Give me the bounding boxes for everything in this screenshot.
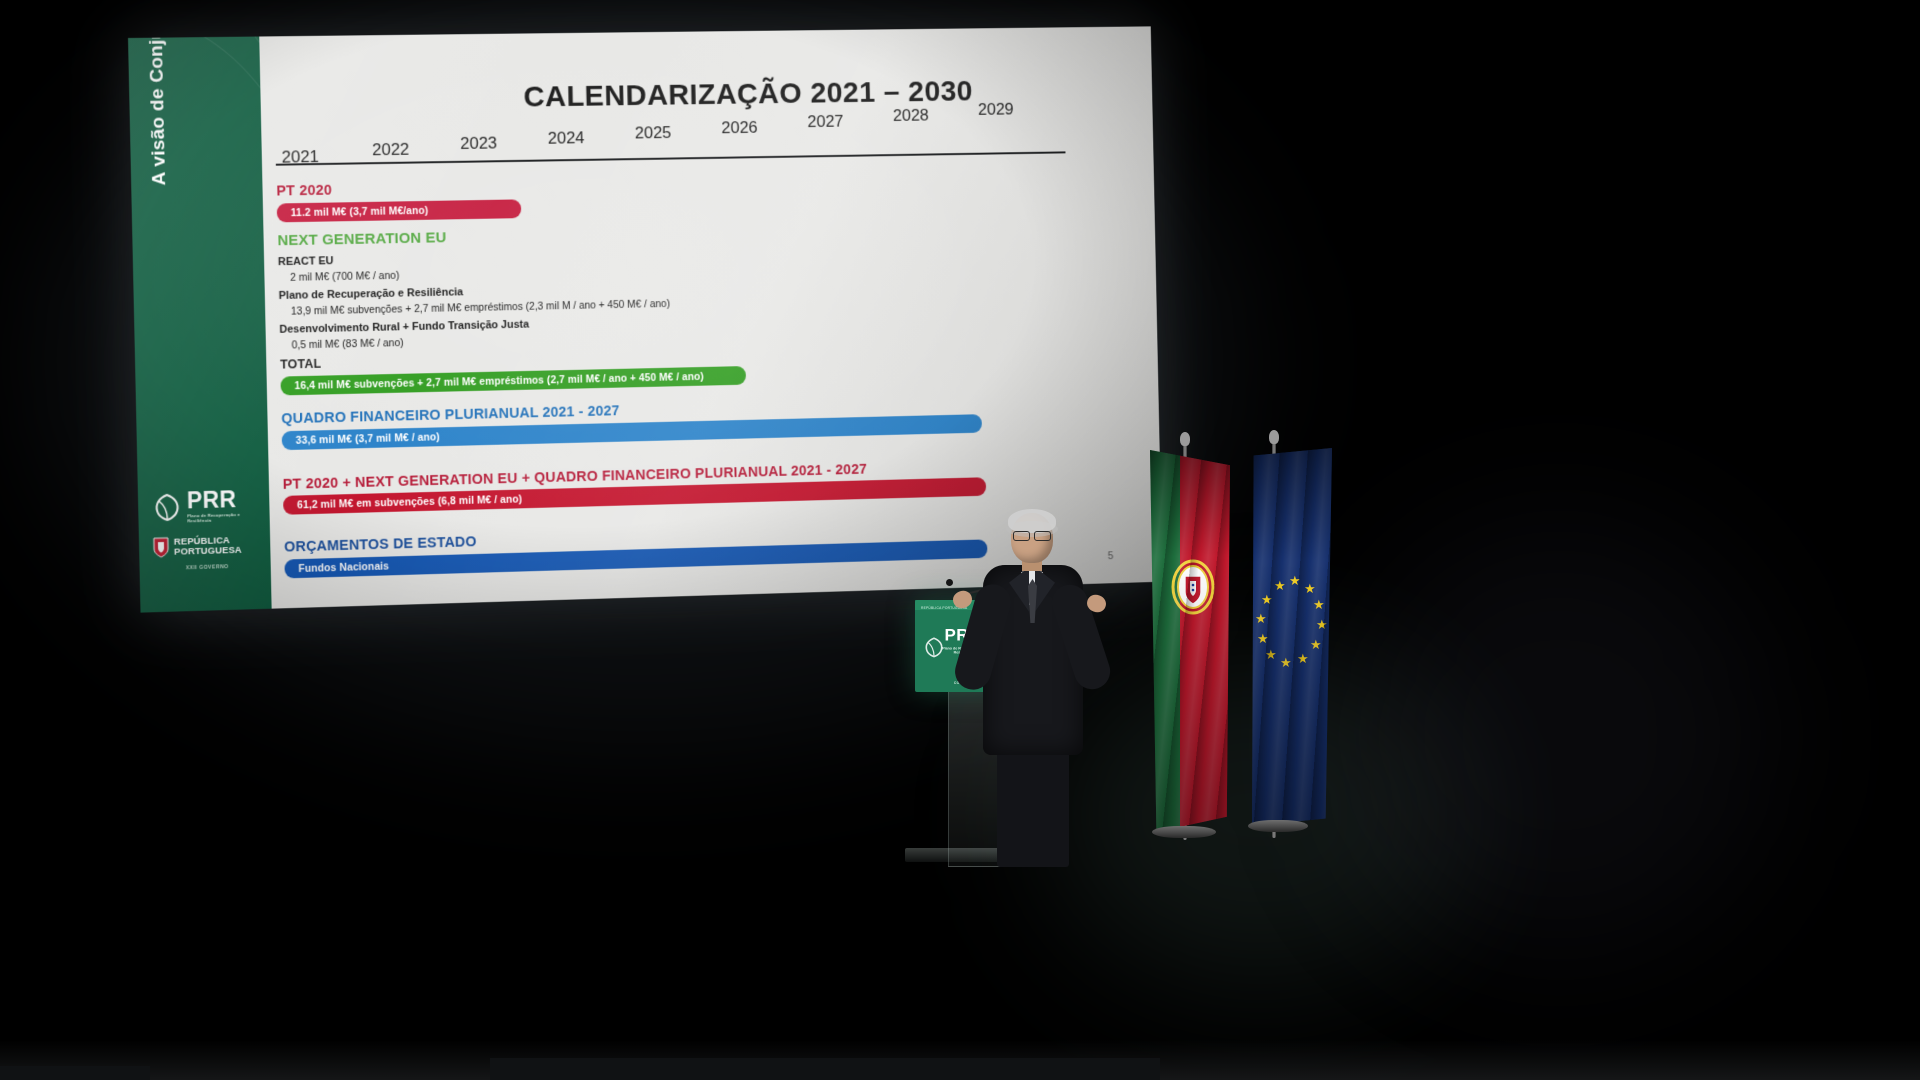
speaker-legs (997, 749, 1069, 867)
speaker (975, 505, 1095, 865)
eu-flag: ★ ★ ★ ★ ★ ★ ★ ★ ★ ★ ★ ★ (1252, 448, 1332, 826)
foreground-strip (490, 1058, 1160, 1080)
ngeu-item-rural-value: 0,5 mil M€ (83 M€ / ano) (292, 337, 404, 351)
bar-value-label: 33,6 mil M€ (3,7 mil M€ / ano) (282, 431, 440, 447)
section-ngeu: NEXT GENERATION EU (277, 229, 446, 249)
eu-pole-finial (1269, 430, 1279, 444)
bar-value-label: Fundos Nacionais (284, 560, 389, 575)
item-value: 13,9 mil M€ subvenções + 2,7 mil M€ empr… (291, 298, 670, 318)
bar-value-label: 11.2 mil M€ (3,7 mil M€/ano) (277, 204, 429, 219)
flags-glow (1350, 520, 1770, 950)
portugal-pole-finial (1180, 432, 1190, 446)
year-tick: 2023 (460, 134, 497, 154)
republica-portuguesa-shield-icon (153, 537, 169, 558)
year-tick: 2027 (807, 112, 843, 132)
microphone-head-icon (946, 579, 953, 586)
item-label: REACT EU (278, 255, 334, 268)
decorative-arc (128, 37, 272, 613)
republica-line1: REPÚBLICA (174, 535, 230, 548)
year-tick: 2028 (893, 106, 929, 126)
year-tick: 2022 (372, 140, 410, 160)
slide-page-number: 5 (1107, 550, 1113, 562)
ngeu-item-react-eu: REACT EU (278, 255, 334, 268)
year-tick: 2029 (978, 100, 1014, 120)
speaker-glasses-icon (1013, 531, 1051, 539)
foreground-strip (0, 1066, 150, 1080)
portugal-flag-base (1152, 826, 1216, 838)
eu-flag-shading (1252, 448, 1332, 826)
item-label: Desenvolvimento Rural + Fundo Transição … (279, 319, 529, 336)
sidebar-vertical-label: A visão de Conjunto (144, 37, 172, 186)
item-label: Plano de Recuperação e Resiliência (279, 286, 464, 302)
year-tick: 2021 (281, 147, 319, 167)
prr-leaf-icon (152, 492, 183, 523)
stage-scene: A visão de Conjunto PRR Plano de Recuper… (0, 0, 1920, 1080)
speaker-hair (1008, 509, 1056, 533)
prr-logo-block: PRR Plano de Recuperação e Resiliência (152, 488, 261, 573)
section-oe: ORÇAMENTOS DE ESTADO (284, 534, 477, 555)
section-heading: PT 2020 (276, 183, 332, 200)
prr-logo-subtitle: Plano de Recuperação e Resiliência (187, 513, 260, 524)
year-tick: 2026 (721, 118, 758, 138)
year-tick: 2024 (548, 128, 585, 148)
ngeu-item-prr: Plano de Recuperação e Resiliência (279, 286, 464, 302)
section-heading: NEXT GENERATION EU (277, 229, 446, 249)
bar-ngeu-total: 16,4 mil M€ subvenções + 2,7 mil M€ empr… (280, 366, 746, 395)
section-pt2020: PT 2020 (276, 183, 332, 200)
section-heading: ORÇAMENTOS DE ESTADO (284, 534, 477, 555)
ngeu-item-react-eu-value: 2 mil M€ (700 M€ / ano) (290, 270, 399, 284)
prr-logo-text: PRR (187, 486, 237, 513)
item-value: 2 mil M€ (700 M€ / ano) (290, 270, 399, 284)
bar-pt2020: 11.2 mil M€ (3,7 mil M€/ano) (277, 199, 522, 222)
decorative-arc (128, 37, 272, 613)
bar-value-label: 16,4 mil M€ subvenções + 2,7 mil M€ empr… (281, 370, 704, 392)
bar-value-label: 61,2 mil M€ em subvenções (6,8 mil M€ / … (283, 493, 522, 511)
ngeu-item-rural: Desenvolvimento Rural + Fundo Transição … (279, 319, 529, 336)
portugal-flag (1150, 450, 1230, 832)
year-axis: 2021 2022 2023 2024 2025 2026 2027 2028 … (275, 117, 1065, 168)
year-tick: 2025 (635, 123, 672, 143)
ngeu-total-label: TOTAL (280, 357, 321, 372)
slide-sidebar: A visão de Conjunto PRR Plano de Recuper… (128, 37, 272, 613)
portugal-flag-shading (1150, 450, 1230, 832)
total-label: TOTAL (280, 357, 321, 372)
eu-flag-base (1248, 820, 1308, 832)
republica-line2: PORTUGUESA (174, 544, 242, 557)
decorative-arc (128, 37, 272, 613)
ngeu-item-prr-value: 13,9 mil M€ subvenções + 2,7 mil M€ empr… (291, 298, 670, 318)
government-label: XXII GOVERNO (153, 563, 260, 572)
item-value: 0,5 mil M€ (83 M€ / ano) (292, 337, 404, 351)
